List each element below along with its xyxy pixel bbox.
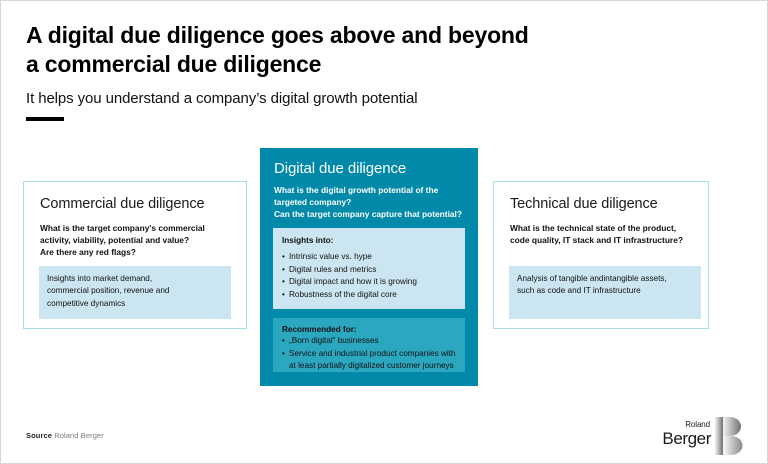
- list-item: Digital rules and metrics: [282, 264, 456, 277]
- panel-technical-analysis: Analysis of tangible andintangible asset…: [509, 266, 701, 319]
- card-commercial-due-diligence[interactable]: Commercial due diligence What is the tar…: [23, 181, 247, 329]
- source-value: Roland Berger: [52, 431, 104, 440]
- list-item: Intrinsic value vs. hype: [282, 251, 456, 264]
- insights-list: Intrinsic value vs. hype Digital rules a…: [282, 251, 456, 302]
- recommended-list: „Born digital“ businesses Service and in…: [282, 335, 456, 373]
- logo-b-mark-icon: [715, 417, 745, 455]
- list-item: Service and industrial product companies…: [282, 348, 456, 373]
- logo-berger-text: Berger: [662, 430, 711, 447]
- card-technical-due-diligence[interactable]: Technical due diligence What is the tech…: [493, 181, 709, 329]
- card-digital-due-diligence[interactable]: Digital due diligence What is the digita…: [260, 148, 478, 386]
- logo-wordmark: Roland Berger: [662, 421, 711, 447]
- panel-text-technical: Analysis of tangible andintangible asset…: [517, 273, 693, 298]
- card-heading-technical: Technical due diligence: [510, 196, 658, 212]
- panel-text-commercial: Insights into market demand, commercial …: [47, 273, 223, 310]
- list-item: „Born digital“ businesses: [282, 335, 456, 348]
- panel-digital-insights: Insights into: Intrinsic value vs. hype …: [273, 228, 465, 309]
- slide-canvas: A digital due diligence goes above and b…: [0, 0, 768, 464]
- card-question-commercial: What is the target company's commercial …: [40, 222, 235, 258]
- source-note: Source Roland Berger: [26, 431, 104, 440]
- roland-berger-logo: Roland Berger: [653, 417, 745, 457]
- page-subtitle: It helps you understand a company’s digi…: [26, 90, 726, 107]
- panel-digital-recommended: Recommended for: „Born digital“ business…: [273, 318, 465, 372]
- card-heading-commercial: Commercial due diligence: [40, 196, 204, 212]
- list-item: Digital impact and how it is growing: [282, 276, 456, 289]
- list-item: Robustness of the digital core: [282, 289, 456, 302]
- logo-roland-text: Roland: [662, 421, 710, 429]
- panel-commercial-insights: Insights into market demand, commercial …: [39, 266, 231, 319]
- slide-header: A digital due diligence goes above and b…: [26, 21, 726, 107]
- panel-title-recommended: Recommended for:: [282, 325, 456, 334]
- card-question-technical: What is the technical state of the produ…: [510, 222, 702, 246]
- card-question-digital: What is the digital growth potential of …: [274, 184, 470, 220]
- title-rule: [26, 117, 64, 121]
- source-label: Source: [26, 431, 52, 440]
- panel-title-insights: Insights into:: [282, 236, 456, 245]
- card-heading-digital: Digital due diligence: [274, 160, 406, 177]
- page-title: A digital due diligence goes above and b…: [26, 21, 726, 80]
